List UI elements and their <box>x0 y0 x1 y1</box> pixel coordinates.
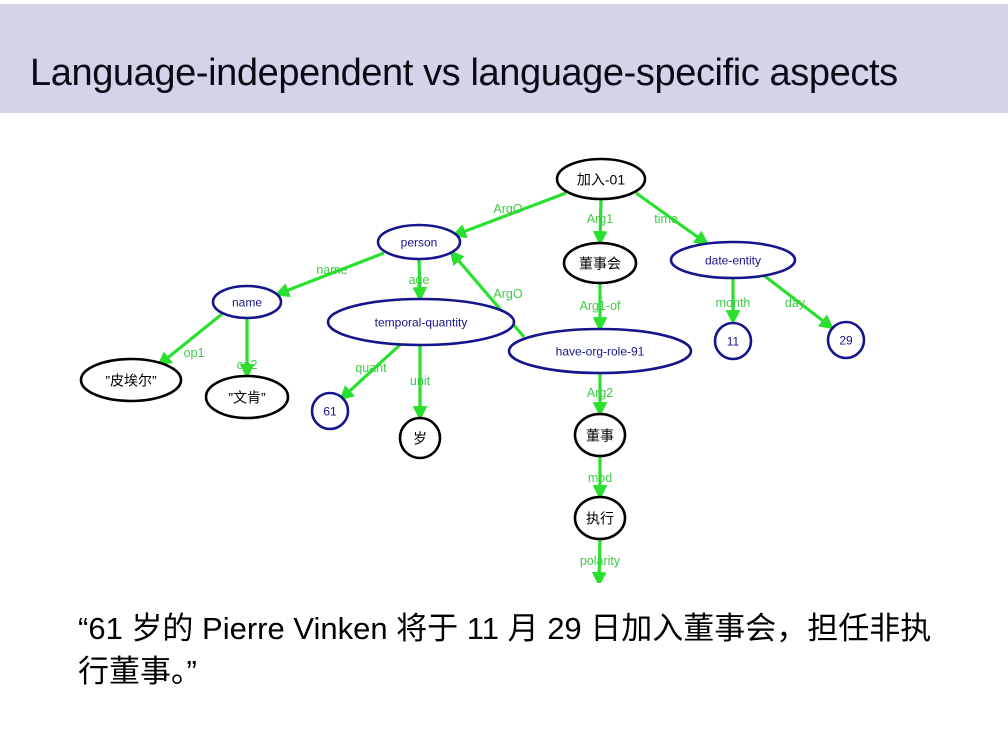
edge-label: ArgO <box>493 287 522 301</box>
edge-label: Arg2 <box>587 386 613 400</box>
graph-node: 董事 <box>575 414 625 456</box>
node-label: 执行 <box>586 511 614 527</box>
figure-caption: “61 岁的 Pierre Vinken 将于 11 月 29 日加入董事会，担… <box>78 608 958 694</box>
node-label: person <box>401 236 438 250</box>
edge-label: Arg1-of <box>580 299 622 313</box>
edge-label: polarity <box>580 554 621 568</box>
graph-node: 11 <box>715 323 751 359</box>
amr-graph-svg: 加入-01person董事会date-entitynametemporal-qu… <box>0 113 1008 583</box>
amr-graph-figure: 加入-01person董事会date-entitynametemporal-qu… <box>0 113 1008 583</box>
page-title: Language-independent vs language-specifi… <box>30 52 960 95</box>
edge-label: Arg1 <box>587 212 613 226</box>
node-label: have-org-role-91 <box>556 345 645 359</box>
graph-node: 董事会 <box>564 243 636 283</box>
edge-label: time <box>654 212 678 226</box>
node-label: name <box>232 296 262 310</box>
edge-label: unit <box>410 374 431 388</box>
node-label: 61 <box>323 405 337 419</box>
edge-label: mod <box>588 471 612 485</box>
graph-node: 29 <box>828 322 864 358</box>
node-label: ”文肯” <box>228 390 266 406</box>
node-label: 董事会 <box>579 256 621 272</box>
graph-node: ”文肯” <box>206 376 288 418</box>
edge-label: ArgO <box>493 202 522 216</box>
graph-node: 加入-01 <box>557 159 645 199</box>
graph-node: have-org-role-91 <box>509 329 691 373</box>
graph-node: 执行 <box>575 497 625 539</box>
graph-node: name <box>213 286 281 318</box>
graph-node: temporal-quantity <box>328 299 514 345</box>
edge-label: day <box>785 296 806 310</box>
node-label: ”皮埃尔” <box>105 373 157 389</box>
edge-label: name <box>316 263 347 277</box>
node-label: 29 <box>839 334 853 348</box>
graph-node: 61 <box>312 393 348 429</box>
node-label: temporal-quantity <box>375 316 468 330</box>
node-label: 董事 <box>586 428 614 444</box>
node-label: date-entity <box>705 254 761 268</box>
edge-label: op1 <box>184 346 205 360</box>
node-label: 11 <box>727 335 740 349</box>
edge-label: month <box>716 296 751 310</box>
edge-label: op2 <box>237 358 258 372</box>
slide-root: Language-independent vs language-specifi… <box>0 0 1008 756</box>
node-label: 加入-01 <box>577 172 625 188</box>
graph-node: person <box>378 225 460 259</box>
graph-node: ”皮埃尔” <box>81 359 181 401</box>
edge-label: age <box>409 273 430 287</box>
nodes-layer: 加入-01person董事会date-entitynametemporal-qu… <box>81 159 864 583</box>
edge-label: quant <box>355 361 387 375</box>
graph-node: 岁 <box>400 418 440 458</box>
graph-node: date-entity <box>671 242 795 278</box>
node-label: 岁 <box>413 431 427 447</box>
